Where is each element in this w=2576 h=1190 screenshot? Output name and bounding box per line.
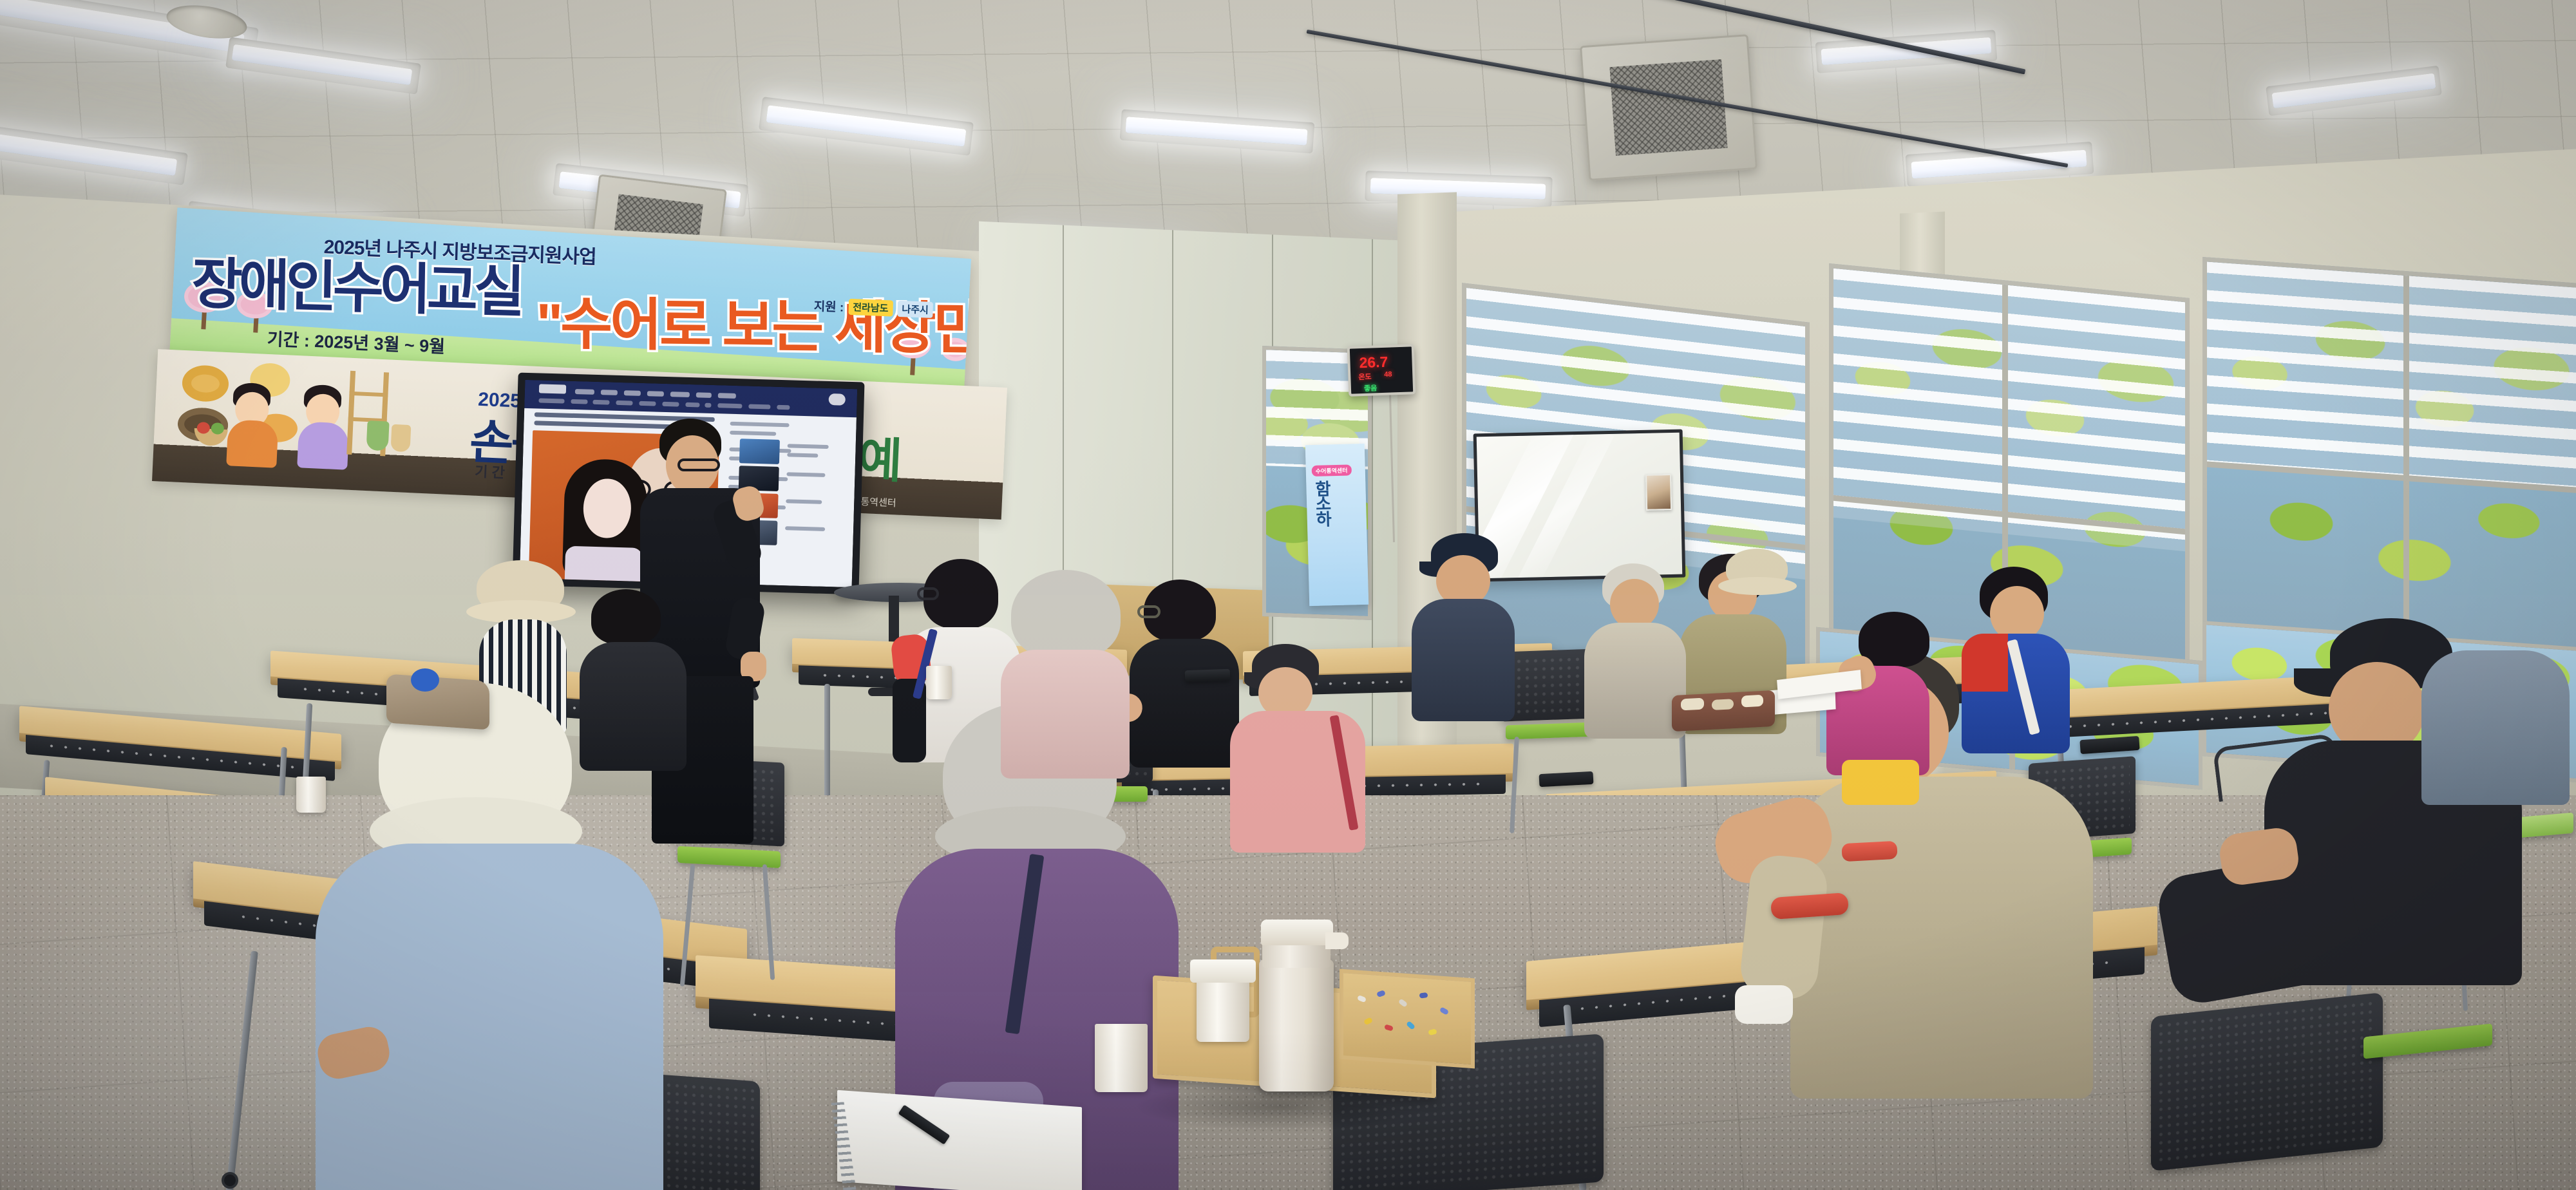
led-humid-value: 48 xyxy=(1384,370,1392,378)
thermos[interactable] xyxy=(1259,959,1334,1091)
tv-subscribe-badge[interactable] xyxy=(828,393,845,406)
glasses-icon xyxy=(677,458,720,471)
candy-tray xyxy=(1340,969,1475,1069)
candy xyxy=(1439,1006,1449,1015)
whiteboard-photo-card xyxy=(1645,474,1672,511)
candy xyxy=(1419,992,1428,999)
candy xyxy=(1363,1017,1373,1025)
led-temp-label: 온도 xyxy=(1358,372,1372,382)
candy xyxy=(1398,998,1408,1007)
banner-title: 장애인수어교실 xyxy=(191,238,522,327)
glasses-icon xyxy=(1137,605,1160,618)
logo-naju: 나주시 xyxy=(897,301,933,318)
classroom-photo: 26.7 온도 48 좋음 수어통역센터 함소하 2025년 나주시 지방보조금… xyxy=(0,0,2576,1190)
candy xyxy=(1376,990,1386,997)
snack-tray xyxy=(1672,690,1775,732)
notebook[interactable] xyxy=(837,1090,1082,1190)
candy xyxy=(1357,995,1367,1003)
thermos-spout xyxy=(1325,932,1349,949)
banner-support-label: 지원 : xyxy=(813,297,844,316)
window-right xyxy=(2202,257,2576,677)
paper-cup-top xyxy=(1190,959,1256,983)
table-caster xyxy=(222,1172,238,1189)
temperature-humidity-display: 26.7 온도 48 좋음 xyxy=(1347,344,1416,397)
paper-cup[interactable] xyxy=(296,777,326,813)
rollup-banner: 수어통역센터 함소하 xyxy=(1305,444,1369,606)
glasses-icon xyxy=(917,587,939,600)
phone[interactable] xyxy=(1185,669,1231,682)
candy xyxy=(1406,1021,1416,1030)
paper-cup[interactable] xyxy=(926,666,952,699)
paper-cup[interactable] xyxy=(1095,1024,1148,1092)
wristband xyxy=(1735,985,1793,1024)
candy xyxy=(1428,1028,1437,1035)
logo-jeonnam: 전라남도 xyxy=(848,299,893,317)
led-main-value: 26.7 xyxy=(1359,354,1388,372)
red-item[interactable] xyxy=(1841,841,1897,862)
thermos-lid[interactable] xyxy=(1261,920,1333,945)
sleeve-red xyxy=(1962,634,2008,692)
rollup-tag: 수어통역센터 xyxy=(1312,464,1352,477)
candy xyxy=(1384,1024,1393,1031)
whiteboard xyxy=(1473,430,1686,582)
tv-nav-brand-icon xyxy=(539,384,566,393)
rollup-text: 함소하 xyxy=(1315,482,1331,527)
led-status: 좋음 xyxy=(1364,382,1378,393)
tv-thumbnail xyxy=(739,439,780,464)
shirt-yellow-detail xyxy=(1842,760,1919,805)
bottle-cap xyxy=(411,668,439,692)
arm xyxy=(1738,853,1830,1001)
banner-quote: "수어로 보는 세상만사" xyxy=(536,278,971,366)
craft-banner-sub: 기 간 xyxy=(475,460,506,482)
